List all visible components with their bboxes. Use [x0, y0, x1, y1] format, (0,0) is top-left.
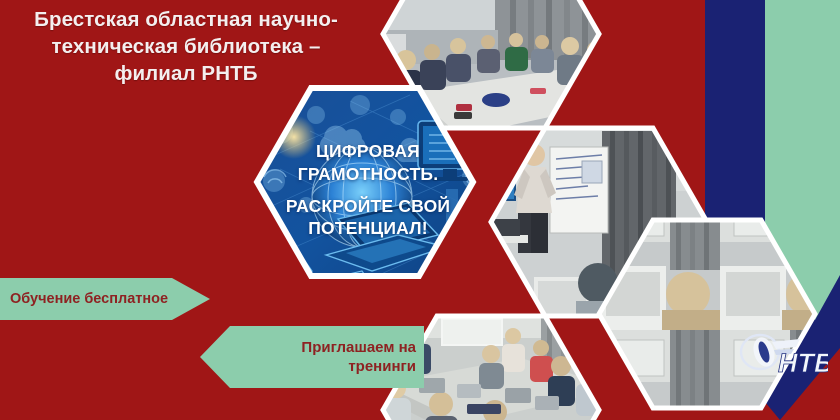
banner-invite-line-1: Приглашаем на: [301, 338, 416, 357]
title-line-2: техническая библиотека –: [6, 33, 366, 60]
ntb-logo: НТБ: [736, 330, 828, 384]
title-line-1: Брестская областная научно-: [6, 6, 366, 33]
banner-free-training: Обучение бесплатное: [0, 278, 210, 320]
disc-emblem-icon: НТБ: [736, 330, 828, 384]
banner-free-training-label: Обучение бесплатное: [10, 291, 168, 307]
title-line-3: филиал РНТБ: [6, 60, 366, 87]
page-title: Брестская областная научно- техническая …: [6, 6, 366, 87]
ntb-logo-text: НТБ: [778, 348, 828, 378]
banner-invite-training: Приглашаем на тренинги: [200, 326, 424, 388]
banner-invite-line-2: тренинги: [301, 357, 416, 376]
poster-canvas: Брестская областная научно- техническая …: [0, 0, 840, 420]
